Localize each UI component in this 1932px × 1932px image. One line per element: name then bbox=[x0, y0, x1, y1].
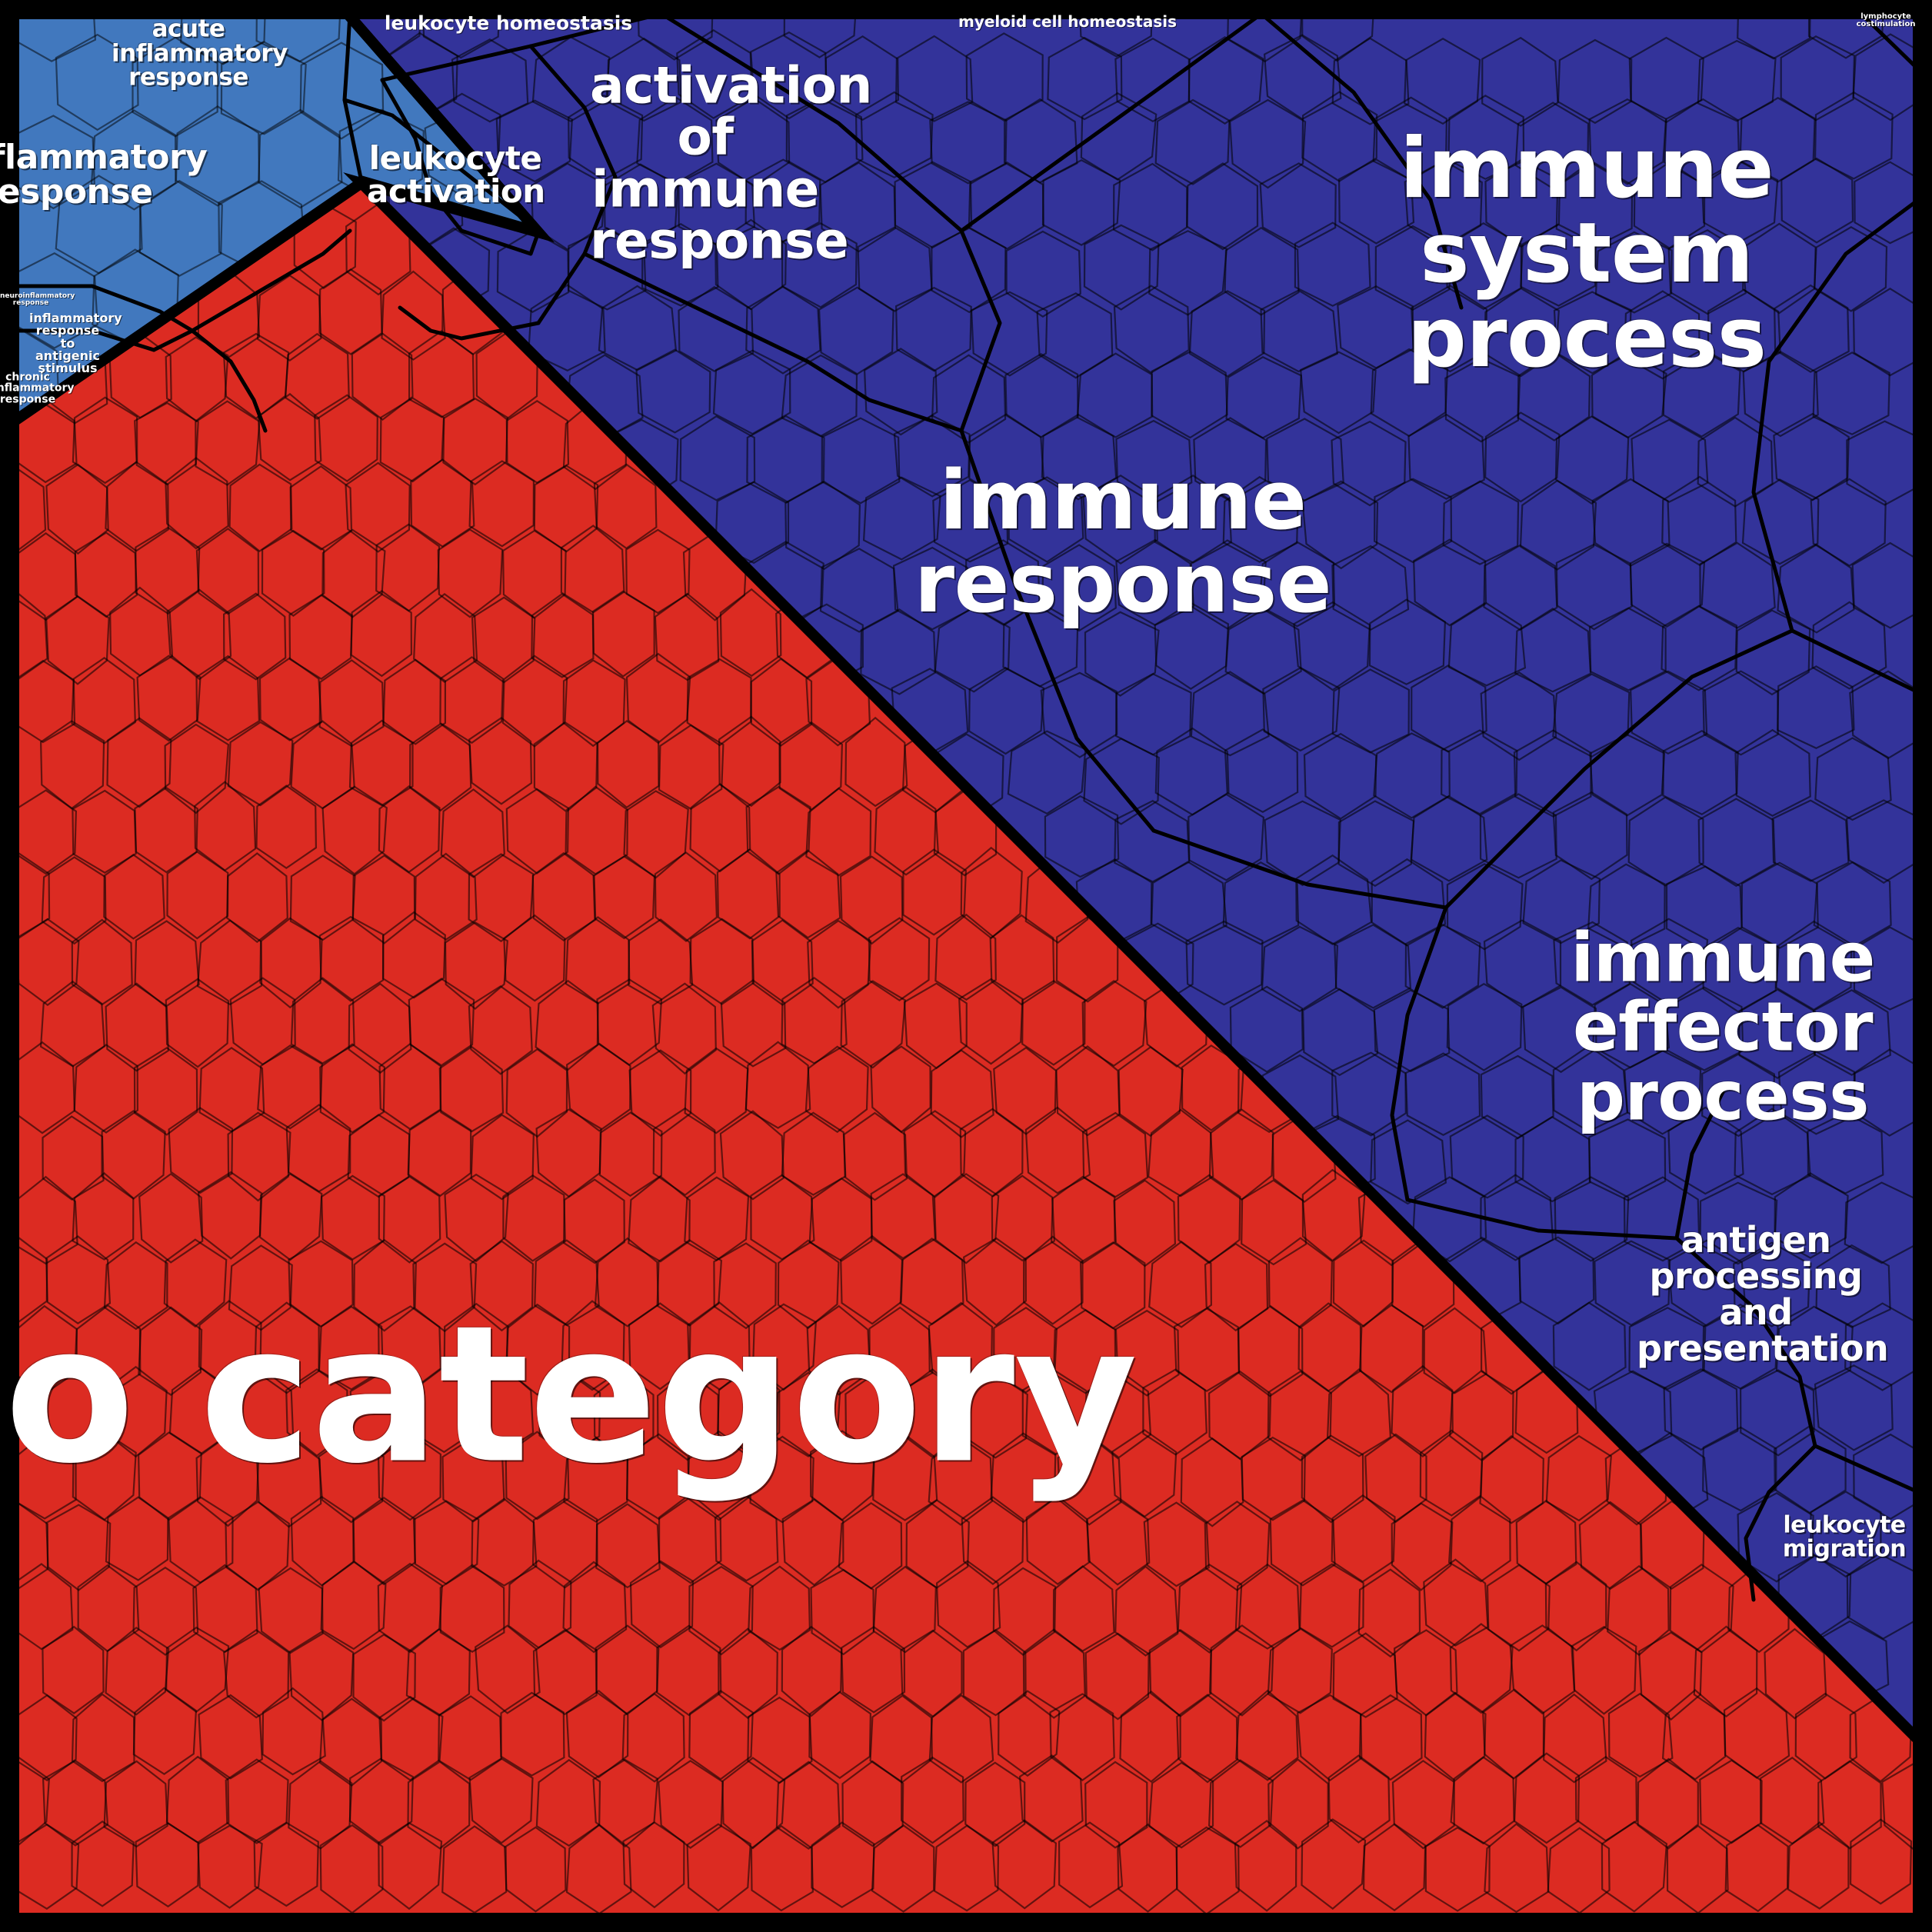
voronoi-treemap-figure: no category immune system process immune… bbox=[0, 0, 1932, 1932]
treemap-canvas bbox=[0, 0, 1932, 1932]
